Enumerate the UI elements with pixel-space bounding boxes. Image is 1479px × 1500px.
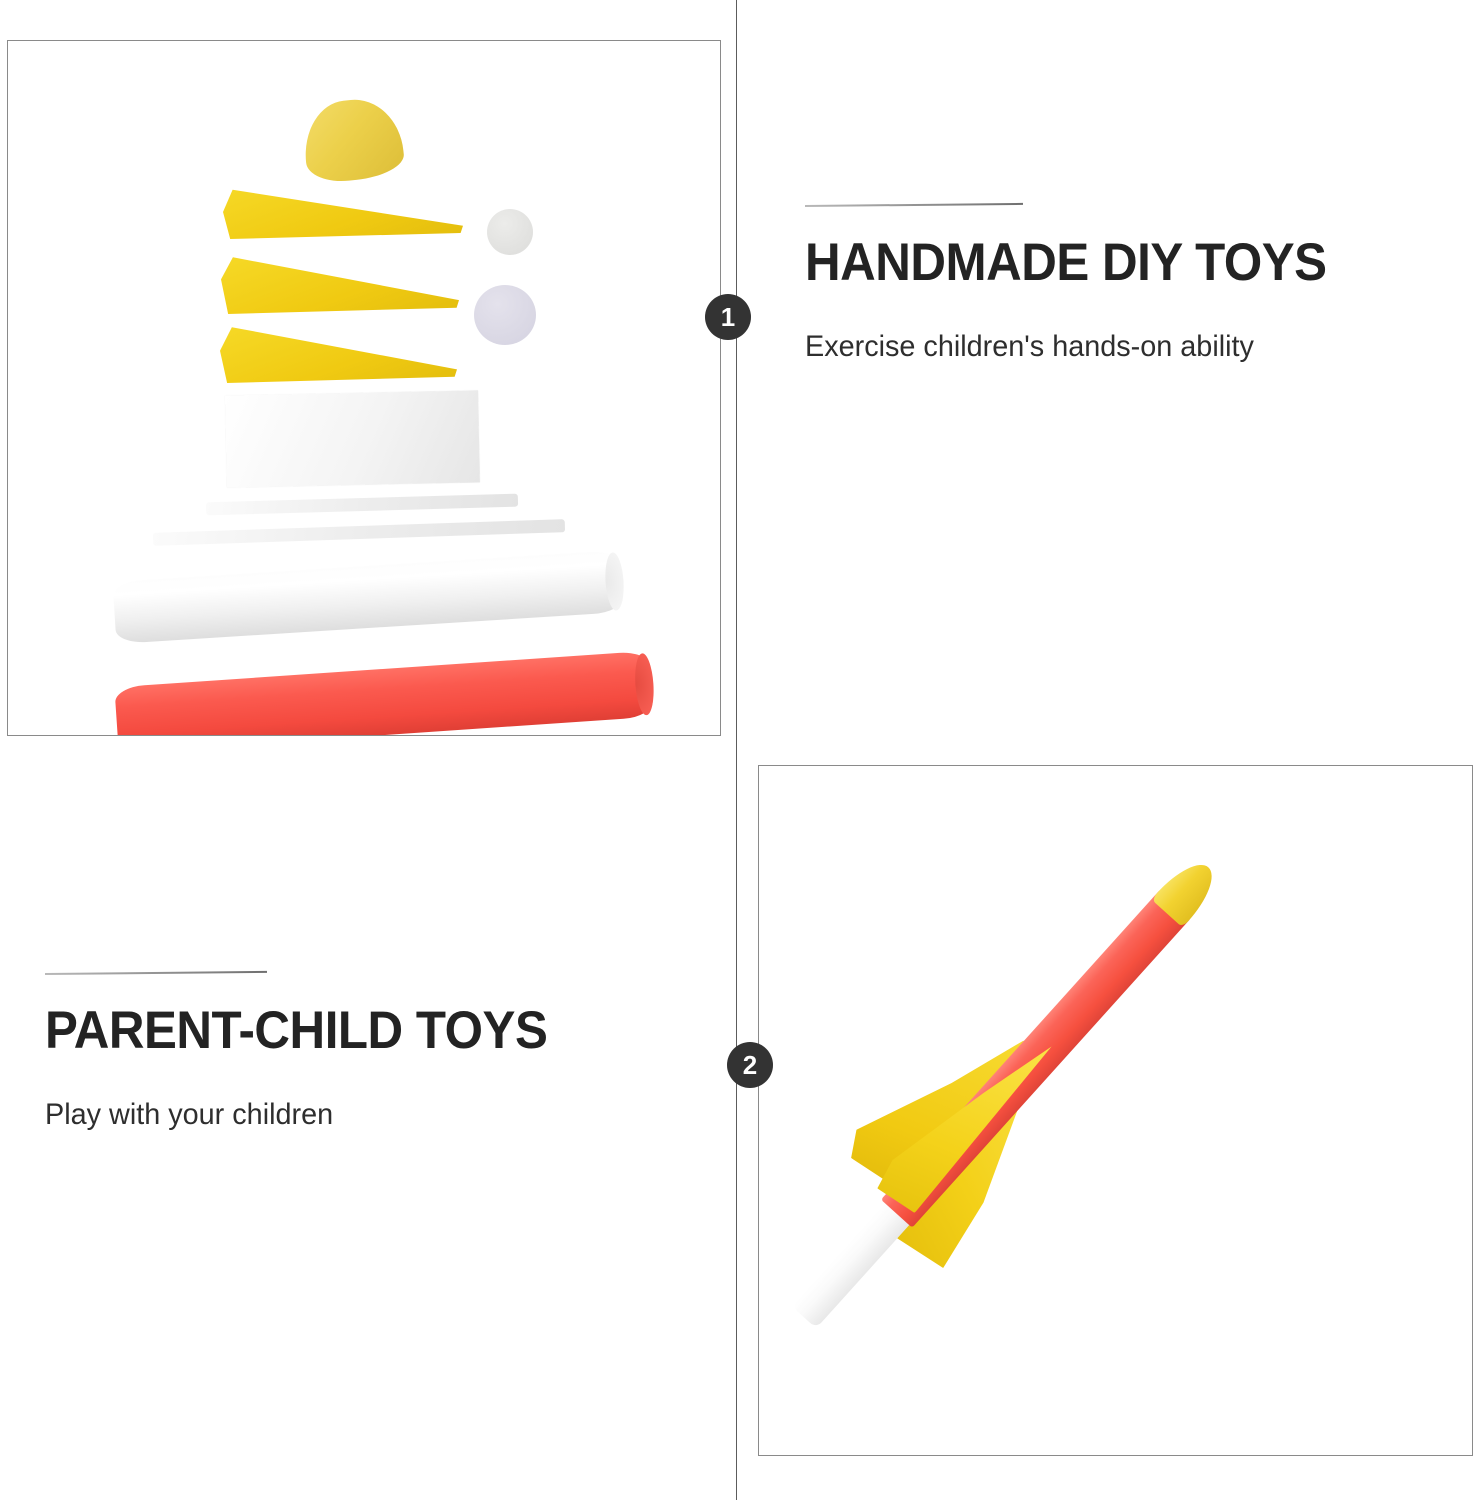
accent-line-1 <box>805 203 1023 207</box>
white-foam-strip-long <box>153 519 565 546</box>
section-1-heading: HANDMADE DIY TOYS <box>805 235 1382 291</box>
accent-line-2 <box>45 971 267 975</box>
yellow-fin-part-1 <box>223 179 463 239</box>
section-2-text: PARENT-CHILD TOYS Play with your childre… <box>45 973 685 1133</box>
step-badge-1: 1 <box>705 294 751 340</box>
assembled-rocket-photo-panel <box>758 765 1473 1456</box>
diy-parts-photo-panel <box>7 40 721 736</box>
lavender-foam-disc-large <box>474 285 536 345</box>
white-foam-strip-short <box>206 494 518 516</box>
section-2-subheading: Play with your children <box>45 1097 659 1133</box>
yellow-nose-cone-part <box>300 95 406 185</box>
section-1-text: HANDMADE DIY TOYS Exercise children's ha… <box>805 205 1425 365</box>
yellow-fin-part-3 <box>220 321 457 383</box>
section-1-subheading: Exercise children's hands-on ability <box>805 329 1400 365</box>
white-foam-sheet-part <box>225 390 480 487</box>
red-foam-tube-part <box>114 651 653 736</box>
yellow-fin-part-2 <box>221 251 459 314</box>
white-foam-tube-part <box>113 550 624 644</box>
section-2-heading: PARENT-CHILD TOYS <box>45 1003 640 1059</box>
step-badge-2: 2 <box>727 1042 773 1088</box>
vertical-connector-line <box>736 0 737 1500</box>
rocket-stage <box>759 766 1473 1456</box>
gray-foam-disc-small <box>487 209 533 255</box>
assembled-foam-rocket <box>770 835 1243 1345</box>
